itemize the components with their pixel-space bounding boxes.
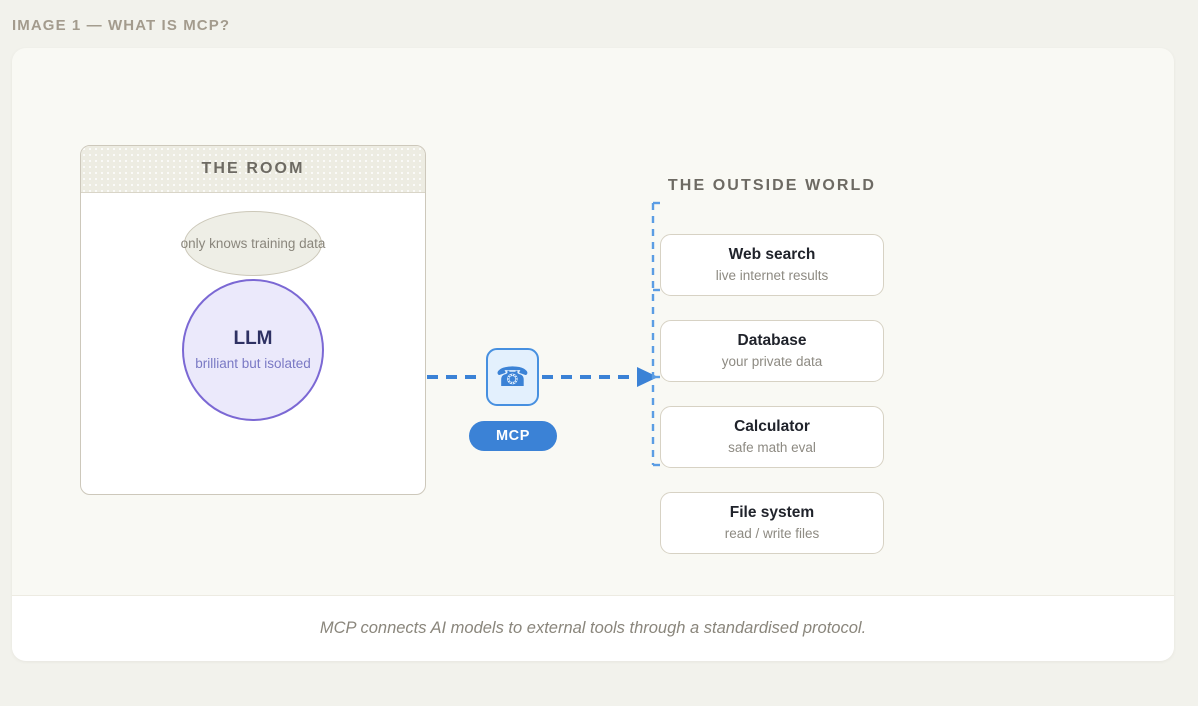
- tool-card-file-system[interactable]: File system read / write files: [660, 492, 884, 554]
- room-header-label: THE ROOM: [201, 160, 304, 178]
- diagram-area: THE ROOM only knows training data LLM br…: [12, 48, 1174, 594]
- tool-card-web-search[interactable]: Web search live internet results: [660, 234, 884, 296]
- mcp-badge: MCP: [469, 421, 557, 451]
- edge-arrowhead: [637, 367, 658, 387]
- page-title: IMAGE 1 — WHAT IS MCP?: [12, 17, 230, 34]
- training-data-note: only knows training data: [184, 211, 322, 276]
- tool-list: Web search live internet results Databas…: [660, 234, 884, 554]
- tool-subtitle: your private data: [722, 354, 823, 370]
- footer-note-text: MCP connects AI models to external tools…: [320, 619, 866, 638]
- room-panel: THE ROOM only knows training data LLM br…: [80, 145, 426, 495]
- tool-subtitle: safe math eval: [728, 440, 816, 456]
- footer-note: MCP connects AI models to external tools…: [12, 595, 1174, 661]
- tool-subtitle: live internet results: [716, 268, 829, 284]
- room-header: THE ROOM: [81, 146, 425, 193]
- tool-title: File system: [730, 504, 814, 522]
- training-data-note-label: only knows training data: [181, 236, 326, 251]
- llm-subtitle: brilliant but isolated: [195, 356, 311, 371]
- tool-card-database[interactable]: Database your private data: [660, 320, 884, 382]
- llm-title: LLM: [233, 329, 272, 350]
- mcp-badge-label: MCP: [496, 428, 530, 444]
- tool-title: Database: [738, 332, 807, 350]
- tool-title: Calculator: [734, 418, 810, 436]
- llm-node: LLM brilliant but isolated: [182, 279, 324, 421]
- tool-card-calculator[interactable]: Calculator safe math eval: [660, 406, 884, 468]
- room-body: only knows training data LLM brilliant b…: [81, 193, 425, 495]
- tool-title: Web search: [729, 246, 816, 264]
- telephone-icon: ☎: [496, 364, 530, 391]
- mcp-node[interactable]: ☎: [486, 348, 539, 406]
- tool-subtitle: read / write files: [725, 526, 820, 542]
- outside-world-title: THE OUTSIDE WORLD: [660, 177, 884, 195]
- figure-card: THE ROOM only knows training data LLM br…: [12, 48, 1174, 661]
